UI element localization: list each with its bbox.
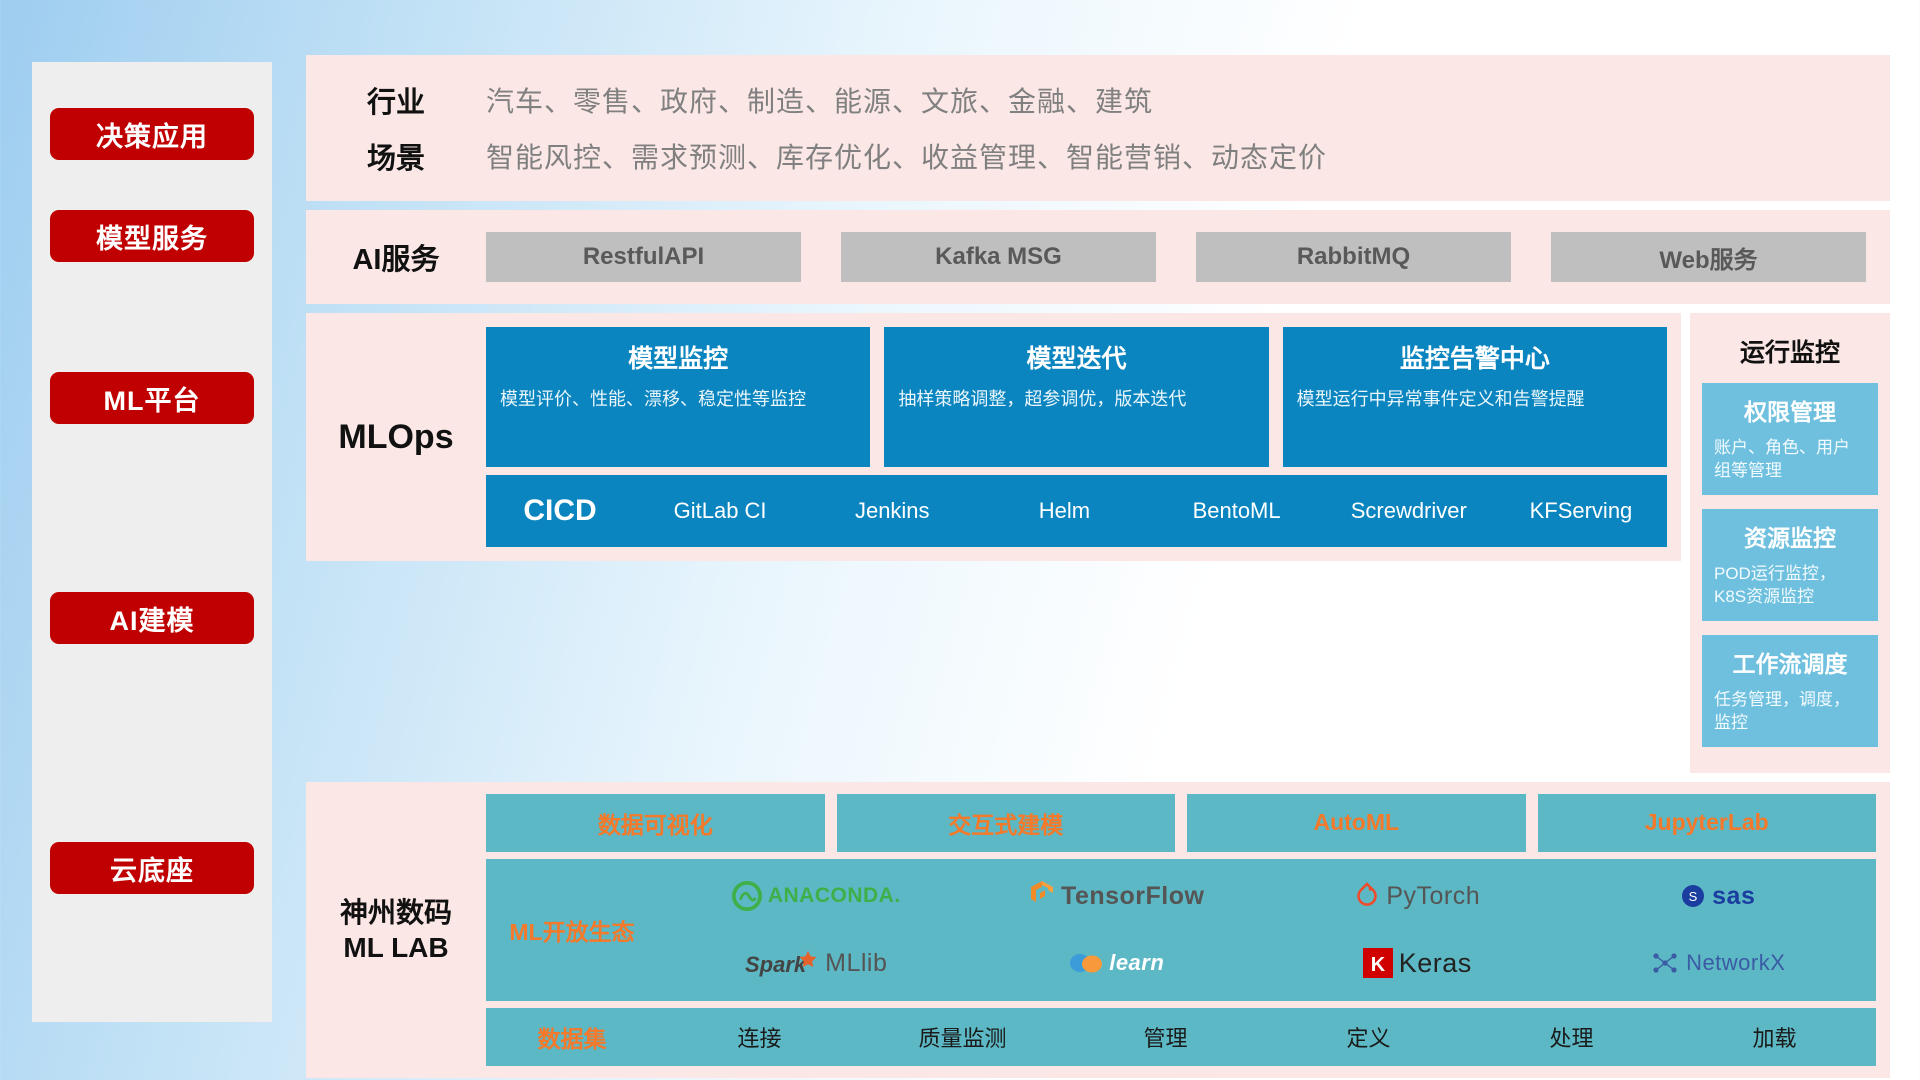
chip-label: 交互式建模	[948, 806, 1063, 840]
cicd-item-kfserving[interactable]: KFServing	[1495, 498, 1667, 523]
rail-item-cloud-base[interactable]: 云底座	[50, 842, 254, 894]
dataset-row: 数据集 连接 质量监测 管理 定义 处理 加载	[486, 1008, 1876, 1066]
card-title: 资源监控	[1714, 519, 1866, 553]
scikit-icon	[1069, 948, 1103, 978]
rail-label: 模型服务	[96, 217, 208, 256]
card-title: 模型迭代	[898, 339, 1254, 375]
ml-ecosystem-label: ML开放生态	[486, 859, 658, 1001]
pytorch-icon	[1354, 882, 1380, 910]
logo-text: MLlib	[825, 949, 887, 978]
tensorflow-logo: TensorFlow	[1029, 880, 1204, 912]
dataset-item-manage[interactable]: 管理	[1064, 1021, 1267, 1053]
monitor-card-permission[interactable]: 权限管理 账户、角色、用户组等管理	[1702, 383, 1878, 495]
spark-mllib-logo: Spark MLlib	[745, 948, 887, 978]
tensorflow-icon	[1029, 880, 1055, 912]
logo-text: NetworkX	[1686, 950, 1785, 976]
card-desc: 抽样策略调整，超参调优，版本迭代	[898, 387, 1254, 411]
cicd-item-jenkins[interactable]: Jenkins	[806, 498, 978, 523]
card-title: 工作流调度	[1714, 645, 1866, 679]
tool-chip-data-visualization[interactable]: 数据可视化	[486, 794, 825, 852]
dataset-item-quality[interactable]: 质量监测	[861, 1021, 1064, 1053]
dataset-label: 数据集	[486, 1020, 658, 1054]
cicd-bar: CICD GitLab CI Jenkins Helm BentoML Scre…	[486, 475, 1667, 547]
ml-lab-label-line2: ML LAB	[306, 930, 486, 965]
dataset-item-define[interactable]: 定义	[1267, 1021, 1470, 1053]
scikit-learn-logo: learn	[1069, 948, 1164, 978]
dataset-item-connect[interactable]: 连接	[658, 1021, 861, 1053]
mlops-card-alert-center[interactable]: 监控告警中心 模型运行中异常事件定义和告警提醒	[1283, 327, 1667, 467]
mlops-section: MLOps 模型监控 模型评价、性能、漂移、稳定性等监控 模型迭代 抽样策略调整…	[306, 313, 1681, 561]
card-desc: 模型评价、性能、漂移、稳定性等监控	[500, 387, 856, 411]
spark-icon: Spark	[745, 948, 819, 978]
tool-chip-interactive-modeling[interactable]: 交互式建模	[837, 794, 1176, 852]
ai-service-chip-web[interactable]: Web服务	[1551, 232, 1866, 282]
band-ml-platform: MLOps 模型监控 模型评价、性能、漂移、稳定性等监控 模型迭代 抽样策略调整…	[306, 313, 1890, 773]
rail-label: ML平台	[104, 379, 201, 418]
runtime-monitor-rail: 运行监控 权限管理 账户、角色、用户组等管理 资源监控 POD运行监控，K8S资…	[1690, 313, 1890, 773]
card-title: 监控告警中心	[1297, 339, 1653, 375]
pytorch-logo: PyTorch	[1354, 882, 1480, 911]
tool-chip-jupyterlab[interactable]: JupyterLab	[1538, 794, 1877, 852]
keras-logo: K Keras	[1363, 948, 1472, 979]
chip-label: RestfulAPI	[583, 243, 704, 271]
chip-label: RabbitMQ	[1297, 243, 1410, 271]
card-desc: 模型运行中异常事件定义和告警提醒	[1297, 387, 1653, 411]
cicd-item-gitlab-ci[interactable]: GitLab CI	[634, 498, 806, 523]
rail-item-model-service[interactable]: 模型服务	[50, 210, 254, 262]
dataset-item-process[interactable]: 处理	[1470, 1021, 1673, 1053]
band-model-service: AI服务 RestfulAPI Kafka MSG RabbitMQ Web服务	[306, 210, 1890, 304]
rail-label: AI建模	[110, 599, 195, 638]
keras-icon: K	[1363, 948, 1393, 978]
rail-label: 云底座	[110, 849, 194, 888]
runtime-monitor-title: 运行监控	[1702, 323, 1878, 383]
band-ai-modeling: 神州数码 ML LAB 数据可视化 交互式建模 AutoML JupyterLa…	[306, 782, 1890, 1078]
chip-label: Kafka MSG	[935, 243, 1062, 271]
left-rail: 决策应用 模型服务 ML平台 AI建模 云底座	[32, 62, 272, 1022]
sas-logo: S sas	[1680, 882, 1755, 911]
scenario-row: 场景 智能风控、需求预测、库存优化、收益管理、智能营销、动态定价	[306, 135, 1890, 177]
sas-icon: S	[1680, 883, 1706, 909]
card-title: 权限管理	[1714, 393, 1866, 427]
cicd-item-helm[interactable]: Helm	[978, 498, 1150, 523]
mlops-card-model-iteration[interactable]: 模型迭代 抽样策略调整，超参调优，版本迭代	[884, 327, 1268, 467]
ai-service-chip-kafka-msg[interactable]: Kafka MSG	[841, 232, 1156, 282]
cicd-label: CICD	[486, 494, 634, 528]
dataset-item-load[interactable]: 加载	[1673, 1021, 1876, 1053]
tool-chip-automl[interactable]: AutoML	[1187, 794, 1526, 852]
ai-service-chip-rabbitmq[interactable]: RabbitMQ	[1196, 232, 1511, 282]
rail-item-decision-app[interactable]: 决策应用	[50, 108, 254, 160]
mlops-card-model-monitoring[interactable]: 模型监控 模型评价、性能、漂移、稳定性等监控	[486, 327, 870, 467]
rail-item-ai-modeling[interactable]: AI建模	[50, 592, 254, 644]
networkx-logo: NetworkX	[1650, 948, 1785, 978]
logo-text: learn	[1109, 950, 1164, 976]
card-desc: 任务管理，调度，监控	[1714, 689, 1866, 735]
logo-text: sas	[1712, 882, 1755, 911]
rail-item-ml-platform[interactable]: ML平台	[50, 372, 254, 424]
card-title: 模型监控	[500, 339, 856, 375]
chip-label: 数据可视化	[598, 806, 713, 840]
scenario-value: 智能风控、需求预测、库存优化、收益管理、智能营销、动态定价	[486, 136, 1327, 176]
monitor-card-workflow[interactable]: 工作流调度 任务管理，调度，监控	[1702, 635, 1878, 747]
industry-value: 汽车、零售、政府、制造、能源、文旅、金融、建筑	[486, 80, 1153, 120]
chip-label: JupyterLab	[1645, 809, 1769, 836]
svg-text:K: K	[1370, 954, 1385, 976]
svg-text:Spark: Spark	[745, 952, 808, 977]
cicd-item-screwdriver[interactable]: Screwdriver	[1323, 498, 1495, 523]
logo-text: ANACONDA.	[768, 884, 901, 908]
networkx-icon	[1650, 948, 1680, 978]
industry-label: 行业	[306, 79, 486, 121]
logo-text: PyTorch	[1386, 882, 1480, 911]
rail-label: 决策应用	[96, 115, 208, 154]
cicd-item-bentoml[interactable]: BentoML	[1151, 498, 1323, 523]
chip-label: AutoML	[1313, 809, 1399, 836]
chip-label: Web服务	[1659, 240, 1757, 275]
ml-lab-label: 神州数码 ML LAB	[306, 895, 486, 965]
ml-lab-label-line1: 神州数码	[306, 895, 486, 930]
anaconda-icon	[732, 881, 762, 911]
logo-text: Keras	[1399, 948, 1472, 979]
monitor-card-resource[interactable]: 资源监控 POD运行监控，K8S资源监控	[1702, 509, 1878, 621]
industry-row: 行业 汽车、零售、政府、制造、能源、文旅、金融、建筑	[306, 79, 1890, 121]
scenario-label: 场景	[306, 135, 486, 177]
ai-service-chip-restfulapi[interactable]: RestfulAPI	[486, 232, 801, 282]
anaconda-logo: ANACONDA.	[732, 881, 901, 911]
band-decision-app: 行业 汽车、零售、政府、制造、能源、文旅、金融、建筑 场景 智能风控、需求预测、…	[306, 55, 1890, 201]
card-desc: POD运行监控，K8S资源监控	[1714, 563, 1866, 609]
logo-text: TensorFlow	[1061, 882, 1204, 911]
card-desc: 账户、角色、用户组等管理	[1714, 437, 1866, 483]
ml-ecosystem-row: ML开放生态 ANACONDA. TensorFlow PyTorch	[486, 859, 1876, 1001]
ai-service-label: AI服务	[306, 236, 486, 278]
mlops-label: MLOps	[306, 418, 486, 457]
main-diagram: 行业 汽车、零售、政府、制造、能源、文旅、金融、建筑 场景 智能风控、需求预测、…	[306, 55, 1890, 1080]
svg-text:S: S	[1689, 889, 1698, 904]
